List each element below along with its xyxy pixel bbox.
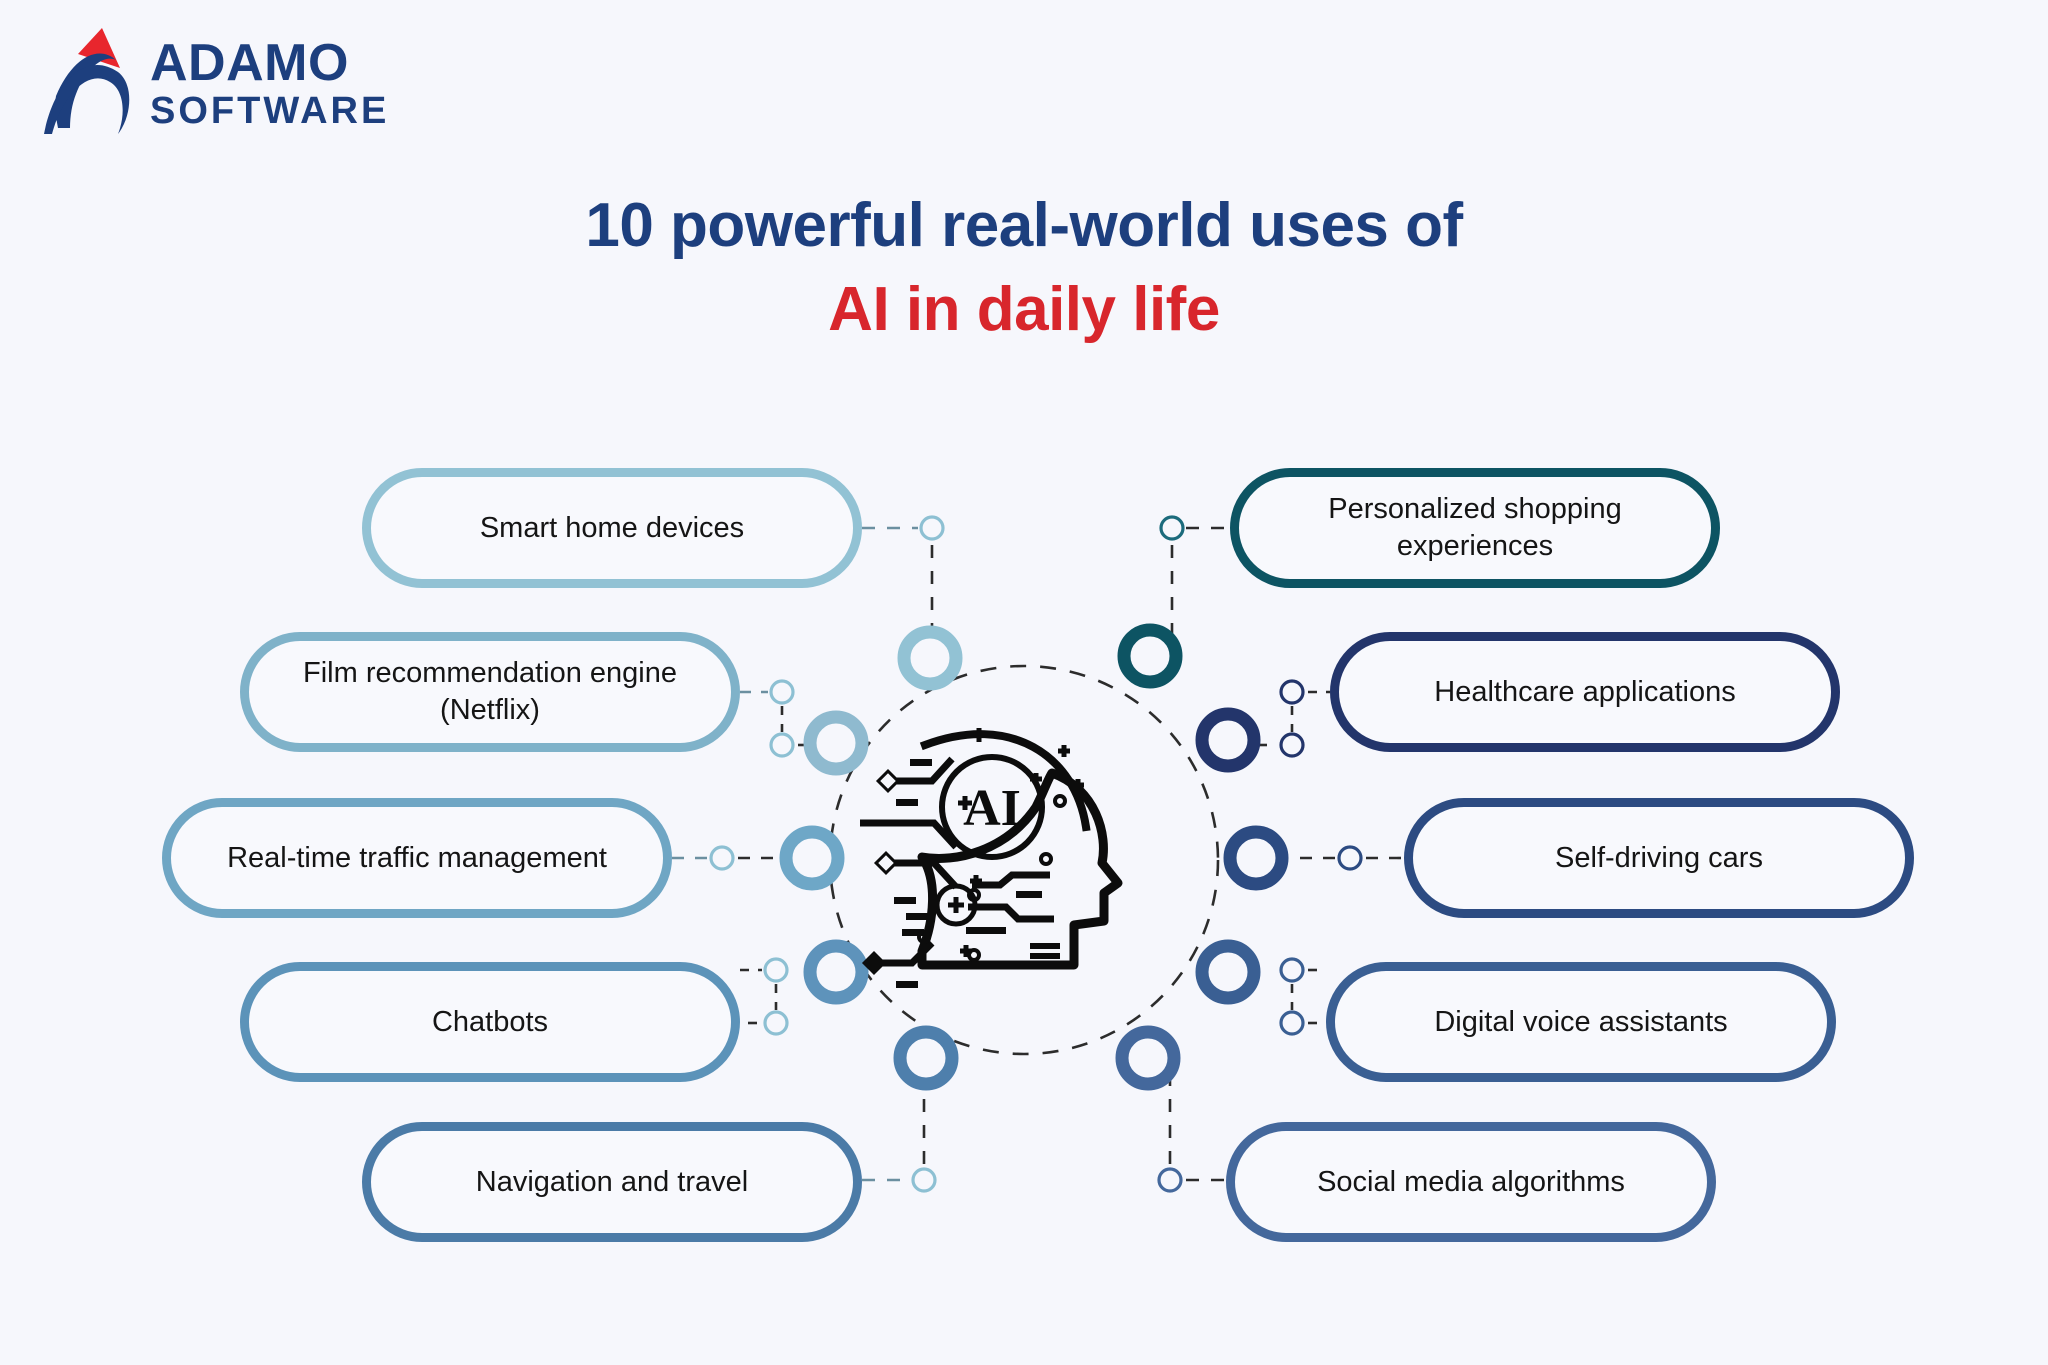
orbit-node-right-2 bbox=[1202, 714, 1254, 766]
connector-dot-left-4b bbox=[765, 1012, 787, 1034]
pill-real-time-traffic-management[interactable]: Real-time traffic management bbox=[162, 798, 672, 918]
pill-healthcare-applications[interactable]: Healthcare applications bbox=[1330, 632, 1840, 752]
pill-digital-voice-assistants[interactable]: Digital voice assistants bbox=[1326, 962, 1836, 1082]
pill-social-media-algorithms[interactable]: Social media algorithms bbox=[1226, 1122, 1716, 1242]
infographic-canvas: ADAMO SOFTWARE 10 powerful real-world us… bbox=[0, 0, 2048, 1365]
pill-label: Chatbots bbox=[432, 1004, 548, 1041]
ai-head-circuit-icon: AI bbox=[860, 715, 1160, 1005]
pill-personalized-shopping-experiences[interactable]: Personalized shopping experiences bbox=[1230, 468, 1720, 588]
pill-label: Smart home devices bbox=[480, 510, 744, 547]
connector-dot-right-4a bbox=[1281, 959, 1303, 981]
orbit-node-left-4 bbox=[810, 946, 862, 998]
pill-self-driving-cars[interactable]: Self-driving cars bbox=[1404, 798, 1914, 918]
pill-film-recommendation-engine[interactable]: Film recommendation engine (Netflix) bbox=[240, 632, 740, 752]
orbit-node-right-4 bbox=[1202, 946, 1254, 998]
ai-label: AI bbox=[963, 780, 1021, 837]
connector-dot-left-5 bbox=[913, 1169, 935, 1191]
pill-label: Real-time traffic management bbox=[227, 840, 607, 877]
connector-dot-right-3 bbox=[1339, 847, 1361, 869]
connector-dot-right-5 bbox=[1159, 1169, 1181, 1191]
title-line-1: 10 powerful real-world uses of bbox=[0, 190, 2048, 262]
adamo-software-logo: ADAMO SOFTWARE bbox=[42, 22, 462, 142]
pill-label: Healthcare applications bbox=[1434, 674, 1735, 711]
logo-name-line1: ADAMO bbox=[150, 36, 389, 90]
connector-dot-left-2a bbox=[771, 681, 793, 703]
pill-label: Personalized shopping experiences bbox=[1265, 491, 1685, 565]
pill-navigation-and-travel[interactable]: Navigation and travel bbox=[362, 1122, 862, 1242]
pill-label: Social media algorithms bbox=[1317, 1164, 1625, 1201]
orbit-node-left-3 bbox=[786, 832, 838, 884]
pill-label: Digital voice assistants bbox=[1434, 1004, 1727, 1041]
connector-dot-left-4a bbox=[765, 959, 787, 981]
logo-wordmark: ADAMO SOFTWARE bbox=[150, 36, 389, 132]
connector-dot-right-4b bbox=[1281, 1012, 1303, 1034]
orbit-node-left-2 bbox=[810, 717, 862, 769]
orbit-node-left-5 bbox=[900, 1032, 952, 1084]
title-line-2: AI in daily life bbox=[0, 274, 2048, 346]
orbit-node-right-5 bbox=[1122, 1032, 1174, 1084]
pill-chatbots[interactable]: Chatbots bbox=[240, 962, 740, 1082]
orbit-node-left-1 bbox=[904, 632, 956, 684]
connector-dot-right-2a bbox=[1281, 681, 1303, 703]
page-title: 10 powerful real-world uses of AI in dai… bbox=[0, 190, 2048, 346]
connector-dot-right-2b bbox=[1281, 734, 1303, 756]
pill-label: Self-driving cars bbox=[1555, 840, 1763, 877]
pill-smart-home-devices[interactable]: Smart home devices bbox=[362, 468, 862, 588]
connector-dot-left-3 bbox=[711, 847, 733, 869]
orbit-node-right-1 bbox=[1124, 630, 1176, 682]
orbit-node-right-3 bbox=[1230, 832, 1282, 884]
connector-dot-left-2b bbox=[771, 734, 793, 756]
pill-label: Film recommendation engine (Netflix) bbox=[275, 655, 705, 729]
logo-name-line2: SOFTWARE bbox=[150, 90, 389, 132]
connector-dot-right-1 bbox=[1161, 517, 1183, 539]
pill-label: Navigation and travel bbox=[476, 1164, 748, 1201]
connector-dot-left-1 bbox=[921, 517, 943, 539]
adamo-swoosh-icon bbox=[42, 24, 134, 136]
